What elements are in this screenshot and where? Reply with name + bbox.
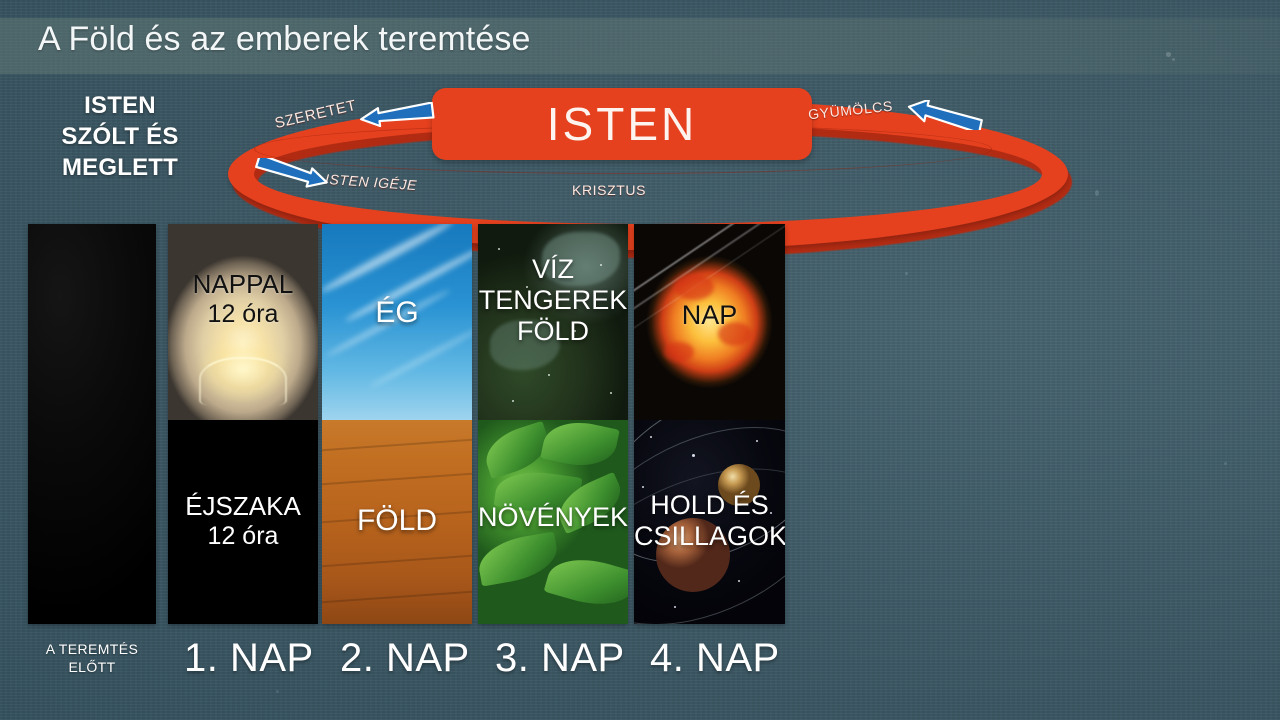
star-dot <box>738 580 740 582</box>
panel-caption-line-2: 12 óra <box>168 300 318 329</box>
star-dot <box>574 330 576 332</box>
star-dot <box>756 440 758 442</box>
panel-caption-line-1: NAPPAL <box>168 270 318 300</box>
sun-spot <box>674 274 714 300</box>
left-caption-line-3: MEGLETT <box>40 152 200 183</box>
star-dot <box>498 248 500 250</box>
panel-caption-line-2: TENGEREK <box>478 285 628 316</box>
day-label-3: 3. NAP <box>495 636 625 681</box>
cycle-center-box: ISTEN <box>432 88 812 160</box>
panel-nighttime: ÉJSZAKA 12 óra <box>168 420 318 624</box>
panel-water-seas-land: VÍZ TENGEREK FÖLD <box>478 224 628 420</box>
panel-caption: ÉG <box>322 296 472 330</box>
day-label-line-2: ELŐTT <box>28 659 156 677</box>
leaf-shape <box>540 420 620 473</box>
panel-void <box>28 224 156 624</box>
cloud-streak <box>368 324 472 389</box>
soil-furrow <box>322 553 472 570</box>
star-dot <box>642 486 644 488</box>
planet-shape <box>656 518 730 592</box>
page-title: A Föld és az emberek teremtése <box>38 20 530 59</box>
day-label-2: 2. NAP <box>340 636 470 681</box>
panel-caption-line-2: 12 óra <box>168 522 318 551</box>
column-day-4: NAP HOLD ÉS CSILLAGOK <box>634 224 785 624</box>
background-speck <box>1224 462 1227 465</box>
panel-caption: ÉJSZAKA 12 óra <box>168 492 318 550</box>
left-caption-line-2: SZÓLT ÉS <box>40 121 200 152</box>
sun-spot <box>664 342 694 362</box>
landmass-shape <box>490 320 560 370</box>
star-dot <box>548 374 550 376</box>
background-speck <box>276 690 279 693</box>
moon-shape <box>718 464 760 506</box>
panel-caption-line-1: ÉG <box>322 296 472 330</box>
cloud-streak <box>322 224 455 296</box>
soil-furrow <box>322 437 472 454</box>
star-dot <box>512 400 514 402</box>
day-label-1: 1. NAP <box>184 636 314 681</box>
panel-soil: FÖLD <box>322 420 472 624</box>
landmass-shape <box>542 232 620 286</box>
day-label-before-creation: A TEREMTÉS ELŐTT <box>28 641 156 676</box>
star-dot <box>526 286 528 288</box>
panel-caption: NAP <box>634 300 785 331</box>
day-label-line-1: A TEREMTÉS <box>28 641 156 659</box>
star-dot <box>770 512 772 514</box>
sun-spot <box>718 322 752 346</box>
column-before-creation <box>28 224 156 624</box>
day-label-4: 4. NAP <box>650 636 780 681</box>
star-dot <box>600 264 602 266</box>
star-dot <box>674 606 676 608</box>
panel-sky: ÉG <box>322 224 472 420</box>
left-caption: ISTEN SZÓLT ÉS MEGLETT <box>40 90 200 184</box>
panel-caption-line-1: ÉJSZAKA <box>168 492 318 522</box>
star-dot <box>610 392 612 394</box>
soil-furrow <box>322 471 472 488</box>
background-speck <box>905 272 908 275</box>
panel-caption-line-1: NAP <box>634 300 785 331</box>
lightbulb-filament <box>199 357 287 405</box>
arrow-left-icon <box>900 100 986 130</box>
leaf-shape <box>544 549 628 615</box>
arrow-left-icon <box>355 102 437 130</box>
panel-plants: NÖVÉNYEK <box>478 420 628 624</box>
star-dot <box>692 454 695 457</box>
void-image <box>28 224 156 624</box>
cycle-center-label: ISTEN <box>547 97 697 151</box>
left-caption-line-1: ISTEN <box>40 90 200 121</box>
column-day-1: NAPPAL 12 óra ÉJSZAKA 12 óra <box>168 224 318 624</box>
panel-sun: NAP <box>634 224 785 420</box>
soil-furrow <box>322 509 472 526</box>
column-day-3: VÍZ TENGEREK FÖLD NÖVÉNYEK <box>478 224 628 624</box>
column-day-2: ÉG FÖLD <box>322 224 472 624</box>
panel-caption: NAPPAL 12 óra <box>168 270 318 328</box>
panel-moon-and-stars: HOLD ÉS CSILLAGOK <box>634 420 785 624</box>
panel-daytime: NAPPAL 12 óra <box>168 224 318 420</box>
creation-cycle-diagram: ISTEN SZERETET ISTEN IGÉJE KRISZTUS GYÜM… <box>210 80 1040 220</box>
star-dot <box>650 436 652 438</box>
background-speck <box>1095 190 1099 196</box>
slide-canvas: A Föld és az emberek teremtése ISTEN SZÓ… <box>0 0 1280 720</box>
cycle-label-christ: KRISZTUS <box>572 182 646 198</box>
arrow-right-icon <box>252 158 334 188</box>
soil-furrow <box>322 589 472 606</box>
